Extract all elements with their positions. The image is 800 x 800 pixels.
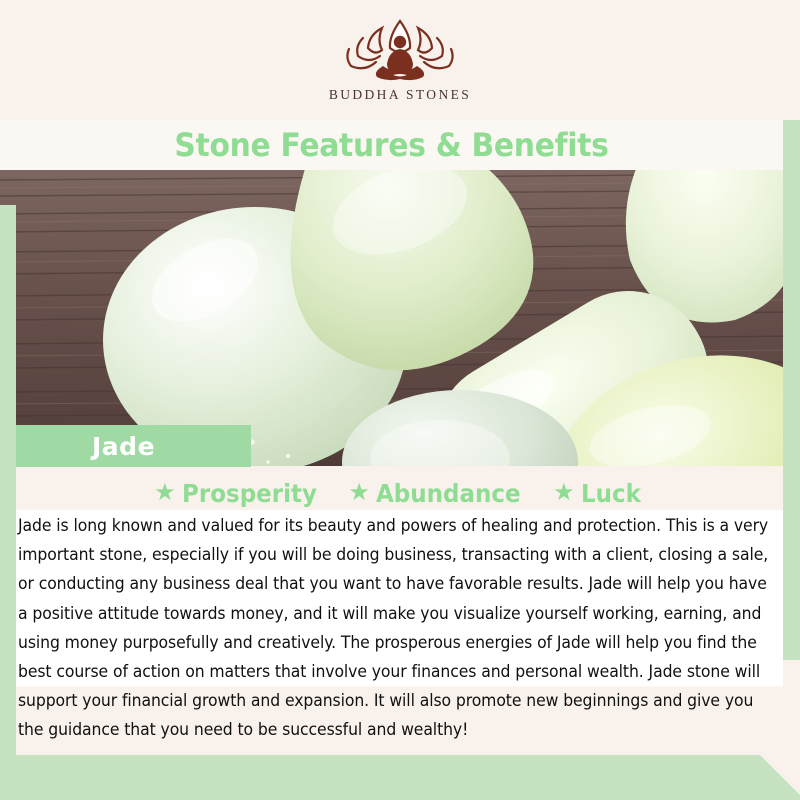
decor-bottom-green-bar [0, 755, 800, 800]
benefits-row: ★ Prosperity ★ Abundance ★ Luck [0, 476, 800, 510]
jade-stones-photo [0, 170, 800, 466]
benefit-label: Prosperity [182, 479, 317, 508]
title-band: Stone Features & Benefits [0, 120, 783, 170]
benefit-item: ★ Prosperity [154, 479, 328, 508]
brand-name: BUDDHA STONES [329, 87, 471, 103]
stone-name-label: Jade [92, 432, 155, 461]
infographic-card: BUDDHA STONES Stone Features & Benefits … [0, 0, 800, 800]
brand-header: BUDDHA STONES [0, 0, 800, 120]
jade-stones-illustration [0, 170, 800, 466]
benefit-item: ★ Luck [553, 479, 646, 508]
benefit-item: ★ Abundance [348, 479, 533, 508]
star-icon: ★ [154, 481, 176, 505]
benefit-label: Luck [581, 479, 641, 508]
lotus-meditation-icon [341, 16, 459, 82]
star-icon: ★ [553, 481, 575, 505]
stone-name-band: Jade [16, 425, 251, 467]
description-panel: Jade is long known and valued for its be… [16, 510, 783, 755]
description-text: Jade is long known and valued for its be… [18, 512, 778, 746]
page-title: Stone Features & Benefits [174, 126, 608, 164]
star-icon: ★ [348, 481, 370, 505]
benefit-label: Abundance [376, 479, 521, 508]
